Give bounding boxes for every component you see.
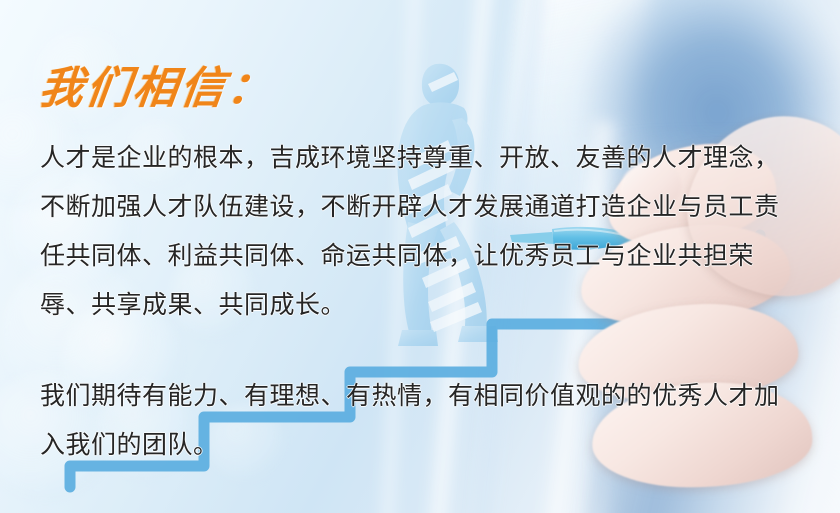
- poster-canvas: 我们相信： 人才是企业的根本，吉成环境坚持尊重、开放、友善的人才理念，不断加强人…: [0, 0, 840, 513]
- text-content: 我们相信： 人才是企业的根本，吉成环境坚持尊重、开放、友善的人才理念，不断加强人…: [0, 0, 840, 513]
- body-copy: 人才是企业的根本，吉成环境坚持尊重、开放、友善的人才理念，不断加强人才队伍建设，…: [40, 133, 782, 469]
- paragraph-recruitment-invitation: 我们期待有能力、有理想、有热情，有相同价值观的的优秀人才加入我们的团队。: [40, 371, 782, 469]
- page-title: 我们相信：: [36, 52, 279, 116]
- paragraph-talent-philosophy: 人才是企业的根本，吉成环境坚持尊重、开放、友善的人才理念，不断加强人才队伍建设，…: [40, 133, 782, 329]
